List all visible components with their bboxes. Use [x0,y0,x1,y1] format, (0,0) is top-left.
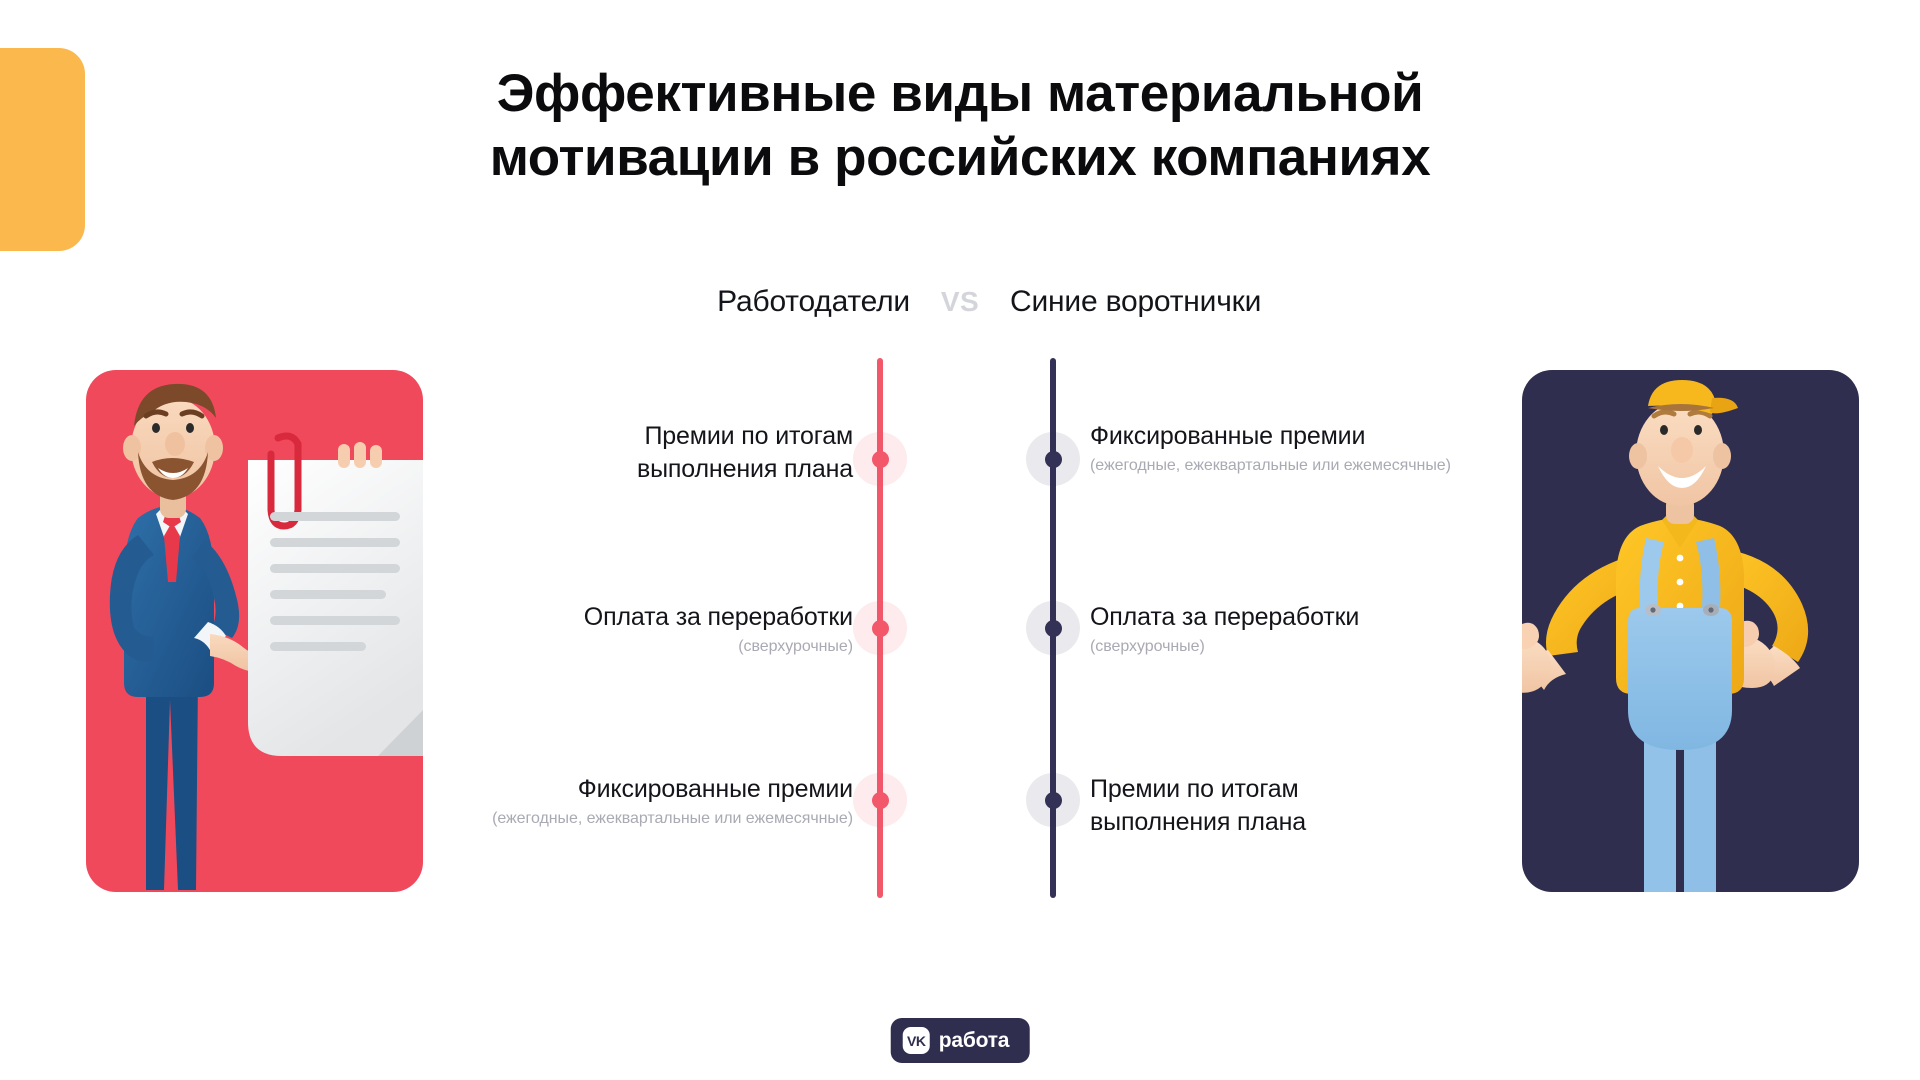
vk-rabota-logo-badge[interactable]: VK работа [891,1018,1030,1063]
column-heading-employers: Работодатели [610,285,910,319]
list-item-title: Фиксированные премии [1090,420,1560,453]
versus-label: VS [910,286,1010,318]
list-item-employers-2: Оплата за переработки (сверхурочные) [383,601,853,657]
comparison-headings: Работодатели VS Синие воротнички [0,285,1920,319]
list-item-title: Премии по итогамвыполнения плана [1090,773,1560,838]
list-item-title: Оплата за переработки [1090,601,1560,634]
page-title: Эффективные виды материальной мотивации … [0,62,1920,189]
list-item-subtitle: (сверхурочные) [1090,637,1560,657]
list-item-blue-collars-1: Фиксированные премии (ежегодные, ежеквар… [1090,420,1560,476]
list-item-employers-1: Премии по итогамвыполнения плана [383,420,853,485]
logo-text: работа [939,1029,1010,1053]
page-title-line-1: Эффективные виды материальной [0,62,1920,126]
list-item-title: Фиксированные премии [383,773,853,806]
list-item-title: Оплата за переработки [383,601,853,634]
blue-collar-worker-thumbs-up-illustration [1522,370,1859,892]
list-item-subtitle: (ежегодные, ежеквартальные или ежемесячн… [383,809,853,829]
vk-logo-icon: VK [903,1027,930,1054]
list-item-subtitle: (ежегодные, ежеквартальные или ежемесячн… [1090,456,1560,476]
businessman-with-document-illustration [86,370,423,892]
list-item-blue-collars-2: Оплата за переработки (сверхурочные) [1090,601,1560,657]
list-item-subtitle: (сверхурочные) [383,637,853,657]
illustration-card-blue-collars [1522,370,1859,892]
illustration-card-employers [86,370,423,892]
page-title-line-2: мотивации в российских компаниях [0,126,1920,190]
column-heading-blue-collars: Синие воротнички [1010,285,1310,319]
list-item-blue-collars-3: Премии по итогамвыполнения плана [1090,773,1560,838]
list-item-employers-3: Фиксированные премии (ежегодные, ежеквар… [383,773,853,829]
list-item-title: Премии по итогамвыполнения плана [383,420,853,485]
